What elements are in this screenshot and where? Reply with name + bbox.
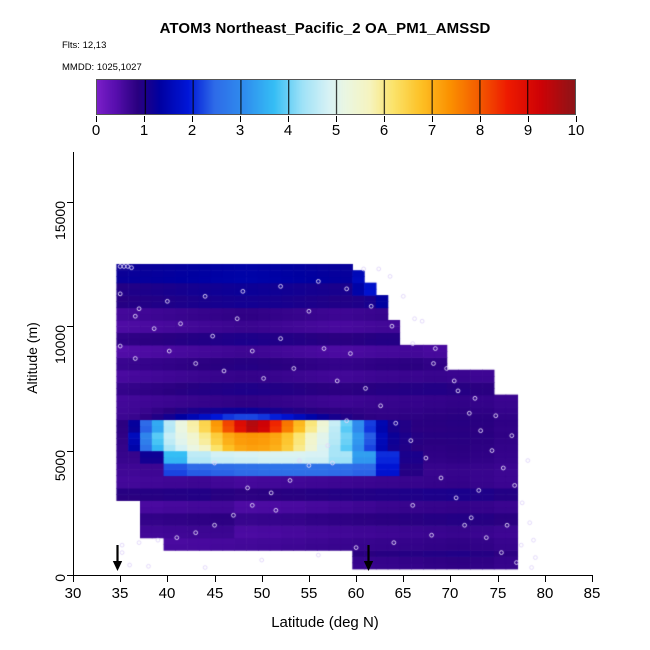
x-axis-tick — [167, 575, 168, 582]
x-axis-tick-label: 75 — [478, 585, 518, 602]
latitude-arrow-marker — [363, 545, 374, 571]
y-axis-tick — [67, 202, 74, 203]
x-axis-tick-label: 55 — [289, 585, 329, 602]
x-axis-tick — [450, 575, 451, 582]
y-axis-label: Altitude (m) — [24, 288, 40, 428]
y-axis-line — [73, 152, 74, 575]
x-axis-tick — [356, 575, 357, 582]
x-axis-tick — [498, 575, 499, 582]
y-axis-tick-label: 15000 — [52, 201, 68, 271]
x-axis-tick — [73, 575, 74, 582]
heatmap-canvas — [0, 0, 650, 650]
x-axis-tick — [545, 575, 546, 582]
y-axis-tick-label: 5000 — [52, 450, 68, 520]
x-axis-tick — [309, 575, 310, 582]
y-axis-tick-label: 10000 — [52, 325, 68, 395]
x-axis-tick-label: 85 — [572, 585, 612, 602]
y-axis-tick — [67, 451, 74, 452]
x-axis-tick-label: 70 — [430, 585, 470, 602]
x-axis-tick — [262, 575, 263, 582]
y-axis-tick — [67, 326, 74, 327]
x-axis-tick — [403, 575, 404, 582]
x-axis-tick-label: 60 — [336, 585, 376, 602]
x-axis-tick-label: 65 — [383, 585, 423, 602]
x-axis-tick — [120, 575, 121, 582]
x-axis-line — [73, 575, 592, 576]
x-axis-tick-label: 40 — [147, 585, 187, 602]
x-axis-tick-label: 80 — [525, 585, 565, 602]
x-axis-tick-label: 35 — [100, 585, 140, 602]
x-axis-label: Latitude (deg N) — [0, 614, 650, 631]
figure-panel: ATOM3 Northeast_Pacific_2 OA_PM1_AMSSD F… — [0, 0, 650, 650]
x-axis-tick-label: 50 — [242, 585, 282, 602]
latitude-arrow-marker — [112, 545, 123, 571]
x-axis-tick — [215, 575, 216, 582]
x-axis-tick — [592, 575, 593, 582]
x-axis-tick-label: 30 — [53, 585, 93, 602]
x-axis-tick-label: 45 — [195, 585, 235, 602]
